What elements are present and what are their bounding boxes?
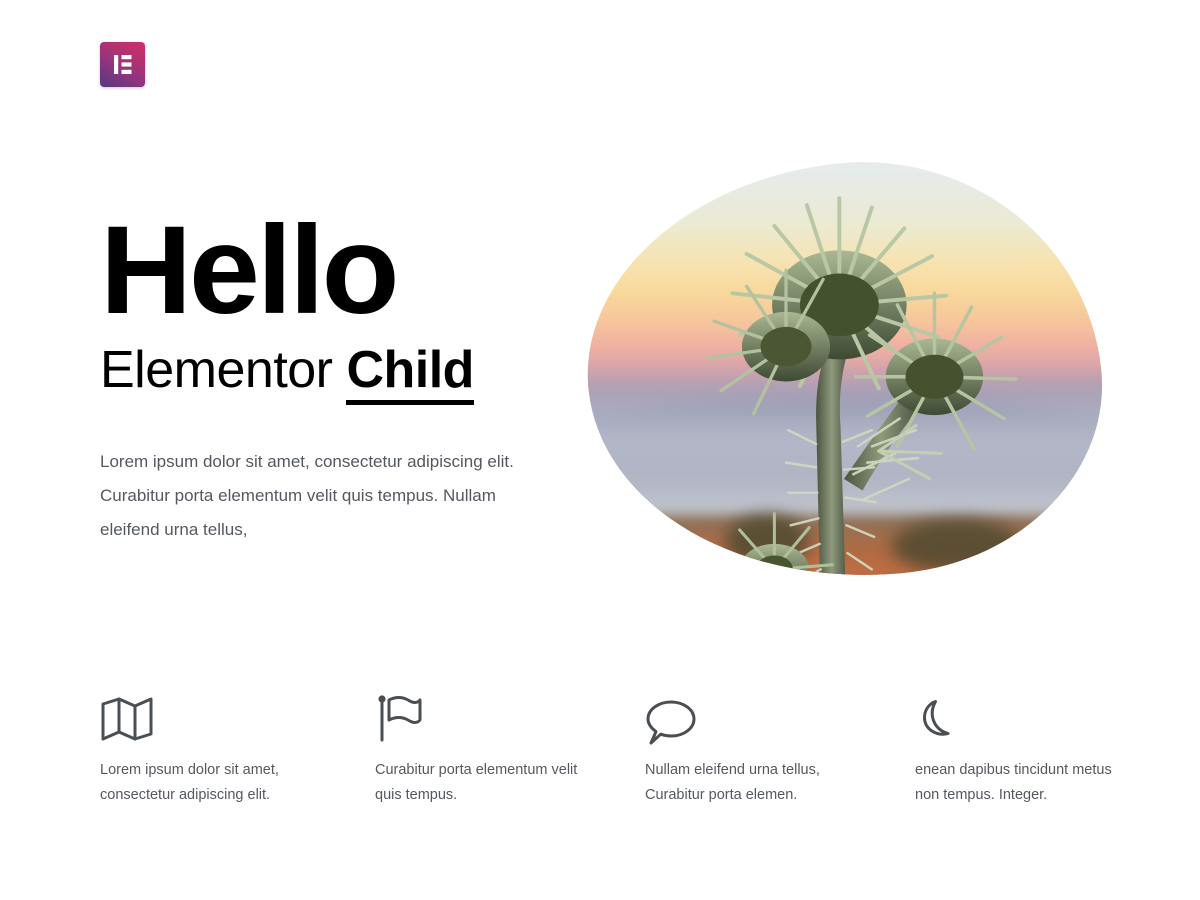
moon-icon [915,688,1100,750]
feature-text: enean dapibus tincidunt metus non tempus… [915,758,1130,809]
page-title: Hello [100,208,579,333]
feature-item: Nullam eleifend urna tellus, Curabitur p… [645,688,915,809]
feature-text: Nullam eleifend urna tellus, Curabitur p… [645,758,860,809]
cactus-silhouette [568,138,1120,603]
hero-subtitle: Elementor Child [100,341,570,399]
site-header [100,42,1100,92]
hero-subtitle-plain: Elementor [100,341,346,399]
flag-icon [375,688,645,750]
blob-image-inner [568,138,1120,603]
feature-text: Lorem ipsum dolor sit amet, consectetur … [100,758,315,809]
hero-media [588,164,1100,578]
comment-bubble-icon [645,688,915,750]
feature-item: enean dapibus tincidunt metus non tempus… [915,688,1100,809]
feature-item: Curabitur porta elementum velit quis tem… [375,688,645,809]
elementor-logo-icon[interactable] [100,42,145,87]
hero-text-block: Hello Elementor Child Lorem ipsum dolor … [100,208,570,547]
hero-subtitle-accent: Child [346,341,473,405]
page-root: Hello Elementor Child Lorem ipsum dolor … [0,0,1200,900]
cactus-sunset-blob-image [568,138,1120,603]
map-icon [100,688,375,750]
hero-paragraph: Lorem ipsum dolor sit amet, consectetur … [100,445,530,547]
feature-text: Curabitur porta elementum velit quis tem… [375,758,590,809]
features-section: Lorem ipsum dolor sit amet, consectetur … [100,688,1100,809]
hero-section: Hello Elementor Child Lorem ipsum dolor … [0,150,1200,590]
feature-item: Lorem ipsum dolor sit amet, consectetur … [100,688,375,809]
